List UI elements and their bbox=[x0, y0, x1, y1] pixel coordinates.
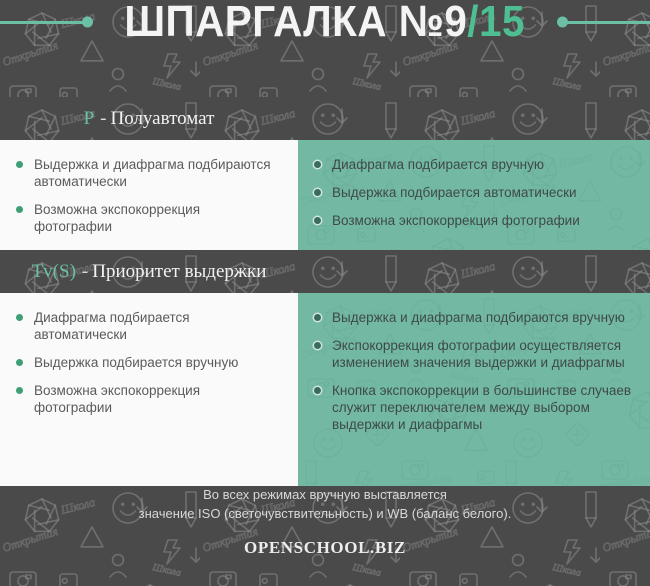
mode-name-p: Полуавтомат bbox=[110, 108, 214, 130]
list-item-text: Кнопка экспокоррекции в большинстве случ… bbox=[332, 383, 631, 432]
header-rule-right bbox=[561, 21, 650, 24]
list-item: Кнопка экспокоррекции в большинстве случ… bbox=[314, 382, 632, 433]
infographic-page: ШПАРГАЛКА №9/15 P - Полуавтомат Av(A) - … bbox=[0, 0, 650, 586]
footer-note-line2: значение ISO (светочувствительность) и W… bbox=[139, 505, 512, 524]
bullet-dot-icon bbox=[16, 359, 23, 366]
list-item: Экспокоррекция фотографии осуществляется… bbox=[314, 337, 632, 371]
footer-brand: OPENSCHOOL.BIZ bbox=[244, 538, 406, 558]
bullet-dot-icon bbox=[314, 342, 321, 349]
list-item-text: Выдержка подбирается вручную bbox=[34, 355, 238, 370]
header-dot-right bbox=[557, 17, 568, 28]
panel-m-mode: Выдержка и диафрагма подбираются вручную… bbox=[298, 293, 650, 486]
bullet-list-tv: Диафрагма подбирается автоматически Выде… bbox=[16, 309, 280, 416]
page-title-accent: /15 bbox=[468, 0, 526, 46]
footer-note-line1: Во всех режимах вручную выставляется bbox=[139, 486, 512, 505]
footer-note: Во всех режимах вручную выставляется зна… bbox=[139, 486, 512, 524]
list-item-text: Диафрагма подбирается вручную bbox=[332, 157, 544, 172]
list-item-text: Выдержка и диафрагма подбираются автомат… bbox=[34, 157, 271, 189]
row2-header-band: Tv(S) - Приоритет выдержки M - Ручной ре… bbox=[0, 250, 650, 293]
mode-dash-tv: - bbox=[82, 261, 88, 283]
mode-code-tv: Tv(S) bbox=[32, 261, 76, 283]
bullet-dot-icon bbox=[314, 189, 321, 196]
list-item: Диафрагма подбирается автоматически bbox=[16, 309, 280, 343]
bullet-dot-icon bbox=[16, 314, 23, 321]
bullet-list-m: Выдержка и диафрагма подбираются вручную… bbox=[314, 309, 632, 433]
list-item: Выдержка и диафрагма подбираются автомат… bbox=[16, 156, 280, 190]
header-banner: ШПАРГАЛКА №9/15 bbox=[0, 0, 650, 97]
list-item: Диафрагма подбирается вручную bbox=[314, 156, 632, 173]
header-rule-left bbox=[0, 21, 89, 24]
list-item: Выдержка и диафрагма подбираются вручную bbox=[314, 309, 632, 326]
list-item-text: Возможна экспокоррекция фотографии bbox=[332, 213, 580, 228]
list-item-text: Выдержка и диафрагма подбираются вручную bbox=[332, 310, 625, 325]
list-item-text: Возможна экспокоррекция фотографии bbox=[34, 383, 200, 415]
header-dot-left bbox=[82, 17, 93, 28]
mode-name-tv: Приоритет выдержки bbox=[92, 261, 266, 283]
bullet-dot-icon bbox=[314, 314, 321, 321]
bullet-dot-icon bbox=[314, 217, 321, 224]
mode-dash-p: - bbox=[100, 108, 106, 130]
row1-header-band: P - Полуавтомат Av(A) - Приоритет диафра… bbox=[0, 97, 650, 140]
mode-code-p: P bbox=[84, 108, 95, 130]
panel-tv-mode: Диафрагма подбирается автоматически Выде… bbox=[0, 293, 298, 486]
panel-av-mode: Диафрагма подбирается вручную Выдержка п… bbox=[298, 140, 650, 250]
bullet-list-p: Выдержка и диафрагма подбираются автомат… bbox=[16, 156, 280, 235]
list-item-text: Экспокоррекция фотографии осуществляется… bbox=[332, 338, 625, 370]
page-title-main: ШПАРГАЛКА №9 bbox=[125, 0, 468, 46]
bullet-dot-icon bbox=[16, 387, 23, 394]
bullet-dot-icon bbox=[314, 387, 321, 394]
list-item-text: Диафрагма подбирается автоматически bbox=[34, 310, 190, 342]
list-item-text: Возможна экспокоррекция фотографии bbox=[34, 202, 200, 234]
list-item: Возможна экспокоррекция фотографии bbox=[314, 212, 632, 229]
bullet-list-av: Диафрагма подбирается вручную Выдержка п… bbox=[314, 156, 632, 229]
list-item: Выдержка подбирается вручную bbox=[16, 354, 280, 371]
panel-p-mode: Выдержка и диафрагма подбираются автомат… bbox=[0, 140, 298, 250]
footer-banner: Во всех режимах вручную выставляется зна… bbox=[0, 486, 650, 586]
bullet-dot-icon bbox=[16, 161, 23, 168]
list-item-text: Выдержка подбирается автоматически bbox=[332, 185, 577, 200]
page-title: ШПАРГАЛКА №9/15 bbox=[108, 0, 542, 44]
list-item: Возможна экспокоррекция фотографии bbox=[16, 201, 280, 235]
list-item: Возможна экспокоррекция фотографии bbox=[16, 382, 280, 416]
panel-header-tv: Tv(S) - Приоритет выдержки bbox=[0, 250, 298, 293]
panel-header-p: P - Полуавтомат bbox=[0, 97, 298, 140]
bullet-dot-icon bbox=[16, 206, 23, 213]
list-item: Выдержка подбирается автоматически bbox=[314, 184, 632, 201]
bullet-dot-icon bbox=[314, 161, 321, 168]
